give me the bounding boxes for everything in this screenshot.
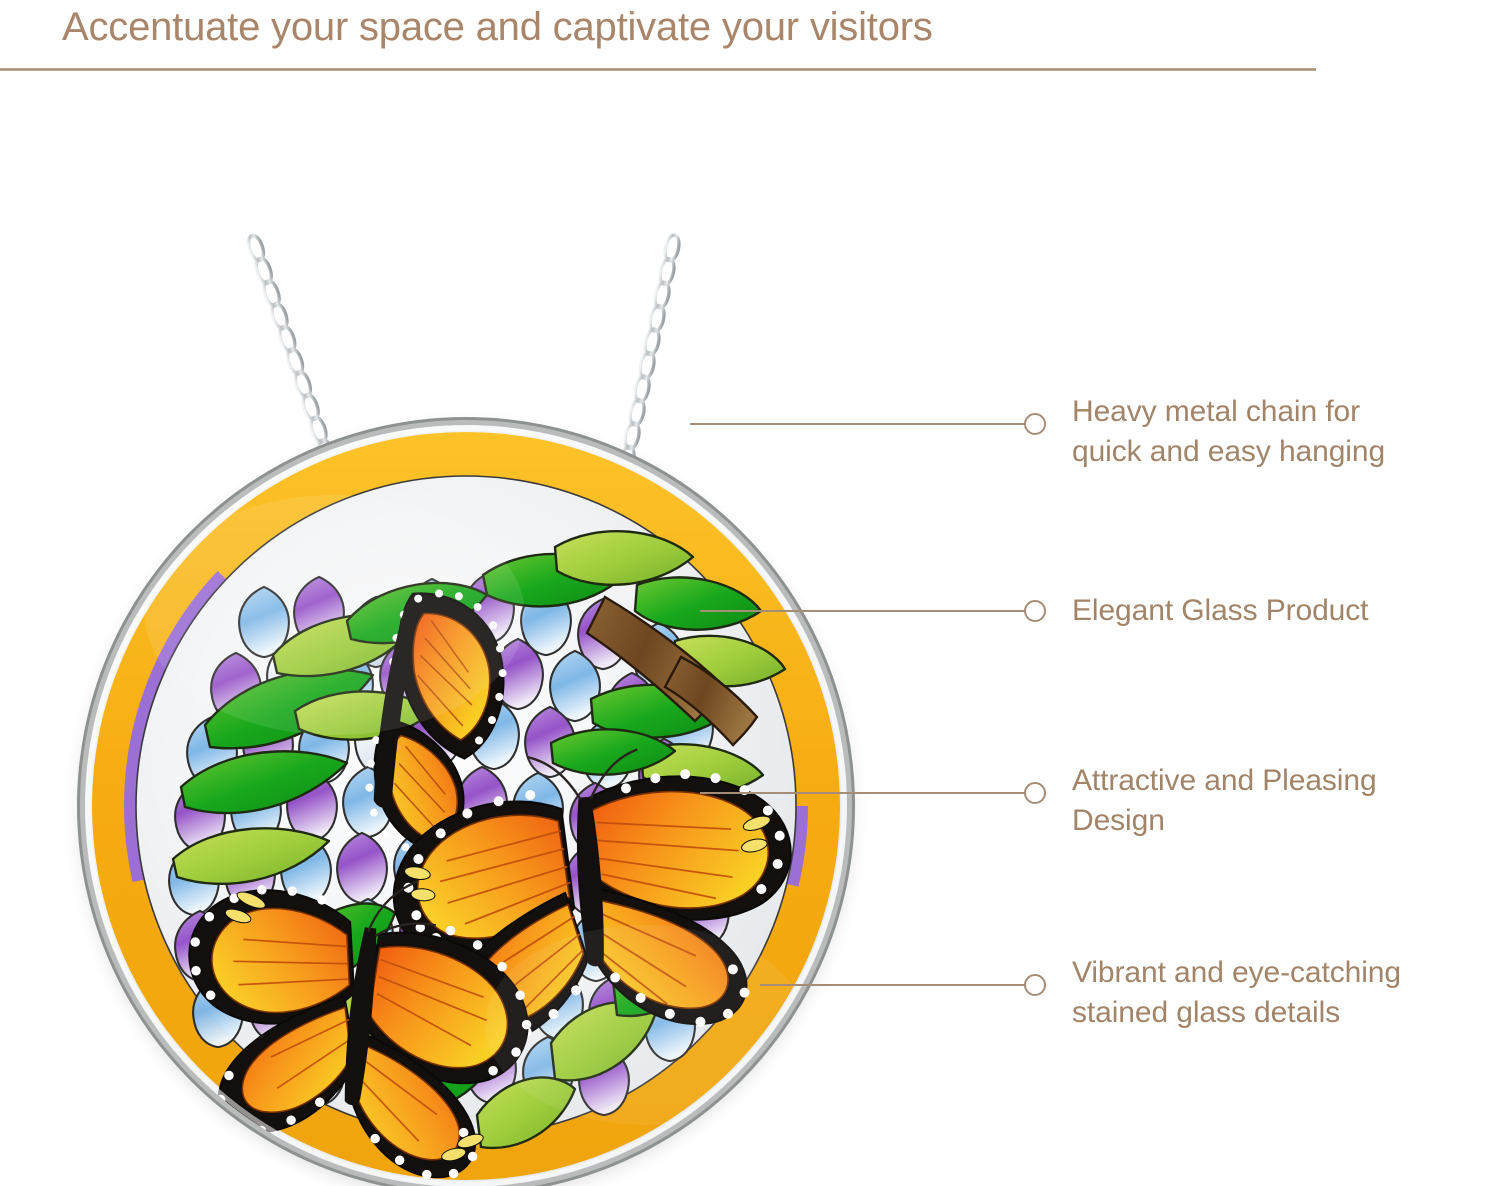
header-divider — [0, 68, 1316, 71]
leader-dot-glass — [1024, 600, 1046, 622]
callout-line: Elegant Glass Product — [1072, 591, 1500, 631]
leader-line-glass — [700, 610, 1042, 612]
callout-line: stained glass details — [1072, 993, 1500, 1033]
callout-label-design: Attractive and Pleasing Design — [1072, 761, 1500, 841]
callout-line: Design — [1072, 801, 1500, 841]
callout-line: Attractive and Pleasing — [1072, 761, 1500, 801]
suncatcher-glass-disc — [85, 425, 847, 1186]
leader-line-chain — [690, 423, 1042, 425]
product-image-area — [0, 80, 1010, 1186]
leader-line-details — [760, 984, 1042, 986]
callout-label-details: Vibrant and eye-catching stained glass d… — [1072, 953, 1500, 1033]
stained-glass-artwork — [85, 425, 847, 1186]
callout-label-chain: Heavy metal chain for quick and easy han… — [1072, 392, 1500, 472]
leader-dot-design — [1024, 782, 1046, 804]
leader-dot-details — [1024, 974, 1046, 996]
callout-line: Vibrant and eye-catching — [1072, 953, 1500, 993]
leader-dot-chain — [1024, 413, 1046, 435]
callout-label-glass: Elegant Glass Product — [1072, 591, 1500, 631]
callout-line: quick and easy hanging — [1072, 432, 1500, 472]
page-title: Accentuate your space and captivate your… — [62, 0, 1362, 56]
leader-line-design — [700, 792, 1042, 794]
callout-line: Heavy metal chain for — [1072, 392, 1500, 432]
